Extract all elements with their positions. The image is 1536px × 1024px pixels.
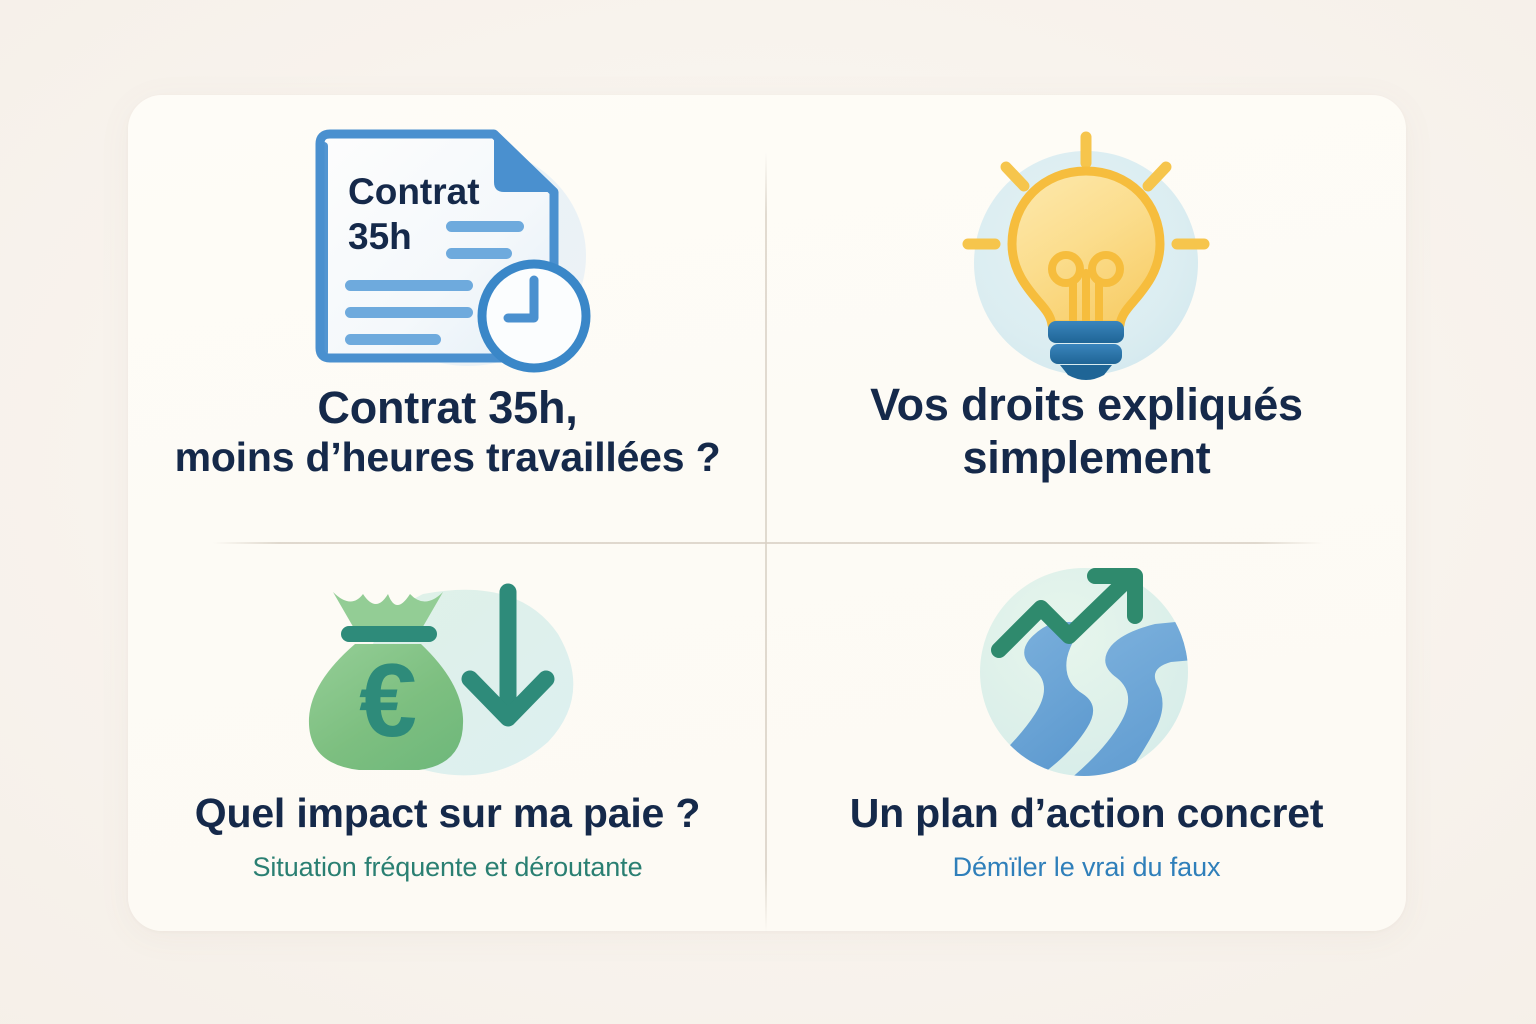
quadrant-title: Quel impact sur ma paie ?	[195, 790, 700, 838]
doc-title-line1: Contrat	[348, 171, 480, 212]
euro-symbol: €	[359, 643, 417, 759]
winding-road-trend-icon	[959, 561, 1214, 786]
quadrant-impact-paie[interactable]: € Quel impact sur ma paie ? Situation fr…	[128, 513, 767, 931]
quadrant-title-line2: simplement	[870, 432, 1303, 485]
lightbulb-icon	[944, 123, 1229, 373]
quadrant-subtitle: Situation fréquente et déroutante	[253, 852, 643, 883]
quadrant-vos-droits[interactable]: Vos droits expliqués simplement	[767, 95, 1406, 513]
page-canvas: Contrat 35h Contrat 35h,	[0, 0, 1536, 1024]
quadrant-title-line1: Contrat 35h,	[175, 382, 721, 435]
quadrant-title: Un plan d’action concret	[850, 790, 1324, 838]
quadrant-title: Contrat 35h, moins d’heures travaillées …	[175, 382, 721, 483]
quadrant-plan-action[interactable]: Un plan d’action concret Démïler le vrai…	[767, 513, 1406, 931]
infographic-card: Contrat 35h Contrat 35h,	[128, 95, 1406, 931]
doc-title-line2: 35h	[348, 216, 412, 257]
document-clock-icon: Contrat 35h	[298, 126, 598, 376]
quadrant-contrat-35h[interactable]: Contrat 35h Contrat 35h,	[128, 95, 767, 513]
quadrant-title: Vos droits expliqués simplement	[870, 379, 1303, 484]
quadrant-title-line1: Un plan d’action concret	[850, 790, 1324, 838]
quadrant-subtitle: Démïler le vrai du faux	[953, 852, 1221, 883]
quadrant-title-line1: Quel impact sur ma paie ?	[195, 790, 700, 838]
quadrant-grid: Contrat 35h Contrat 35h,	[128, 95, 1406, 931]
quadrant-title-line2: moins d’heures travaillées ?	[175, 434, 721, 482]
quadrant-title-line1: Vos droits expliqués	[870, 379, 1303, 432]
money-bag-down-arrow-icon: €	[303, 561, 593, 786]
